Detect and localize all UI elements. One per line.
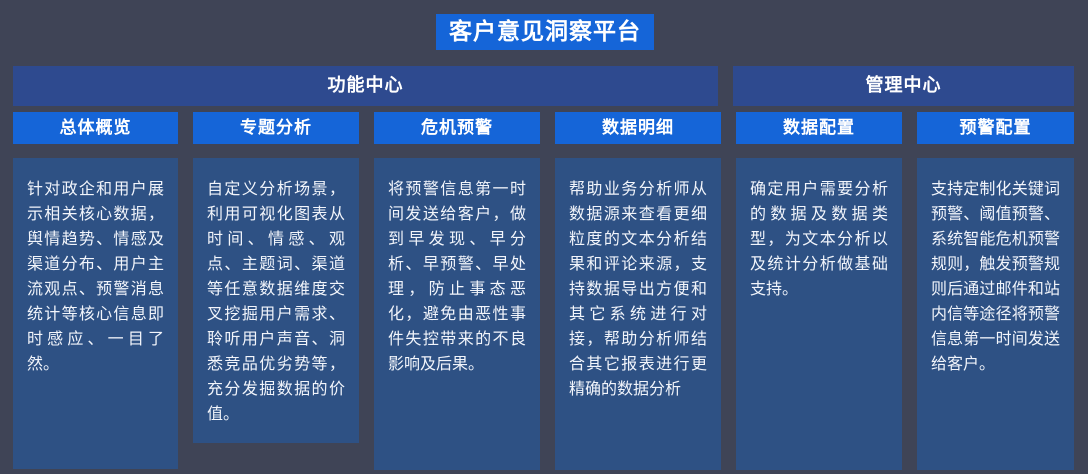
tab-topic-analysis[interactable]: 专题分析 xyxy=(193,112,359,144)
panel-overview: 针对政企和用户展示相关核心数据，舆情趋势、情感及渠道分布、用户主流观点、预警消息… xyxy=(13,158,178,469)
tab-data-config-label: 数据配置 xyxy=(783,120,855,137)
feature-column-alert-config: 预警配置 支持定制化关键词预警、阈值预警、系统智能危机预警规则，触发预警规则后通… xyxy=(917,112,1074,470)
tab-data-detail-label: 数据明细 xyxy=(602,120,674,137)
panel-data-config-text: 确定用户需要分析的数据及数据类型，为文本分析以及统计分析做基础支持。 xyxy=(750,176,888,301)
tab-topic-analysis-label: 专题分析 xyxy=(240,120,312,137)
panel-overview-text: 针对政企和用户展示相关核心数据，舆情趋势、情感及渠道分布、用户主流观点、预警消息… xyxy=(27,176,164,376)
panel-crisis-alert: 将预警信息第一时间发送给客户，做到早发现、早分析、早预警、早处理，防止事态恶化，… xyxy=(374,158,540,470)
panel-data-config: 确定用户需要分析的数据及数据类型，为文本分析以及统计分析做基础支持。 xyxy=(736,158,902,470)
section-header-management-center-label: 管理中心 xyxy=(866,77,942,95)
feature-column-data-detail: 数据明细 帮助业务分析师从数据源来查看更细粒度的文本分析结果和评论来源，支持数据… xyxy=(555,112,721,470)
feature-column-grid: 总体概览 针对政企和用户展示相关核心数据，舆情趋势、情感及渠道分布、用户主流观点… xyxy=(13,112,1074,462)
tab-overview[interactable]: 总体概览 xyxy=(13,112,178,144)
tab-crisis-alert-label: 危机预警 xyxy=(421,120,493,137)
tab-data-detail[interactable]: 数据明细 xyxy=(555,112,721,144)
panel-data-detail: 帮助业务分析师从数据源来查看更细粒度的文本分析结果和评论来源，支持数据导出方便和… xyxy=(555,158,721,470)
panel-crisis-alert-text: 将预警信息第一时间发送给客户，做到早发现、早分析、早预警、早处理，防止事态恶化，… xyxy=(388,176,526,376)
tab-crisis-alert[interactable]: 危机预警 xyxy=(374,112,540,144)
feature-column-data-config: 数据配置 确定用户需要分析的数据及数据类型，为文本分析以及统计分析做基础支持。 xyxy=(736,112,902,470)
panel-alert-config: 支持定制化关键词预警、阈值预警、系统智能危机预警规则，触发预警规则后通过邮件和站… xyxy=(917,158,1074,470)
page-title-label: 客户意见洞察平台 xyxy=(449,21,641,44)
tab-alert-config[interactable]: 预警配置 xyxy=(917,112,1074,144)
section-header-management-center: 管理中心 xyxy=(733,66,1074,106)
tab-data-config[interactable]: 数据配置 xyxy=(736,112,902,144)
feature-column-overview: 总体概览 针对政企和用户展示相关核心数据，舆情趋势、情感及渠道分布、用户主流观点… xyxy=(13,112,178,469)
platform-overview-page: 客户意见洞察平台 功能中心 管理中心 总体概览 针对政企和用户展示相关核心数据，… xyxy=(0,0,1088,474)
panel-alert-config-text: 支持定制化关键词预警、阈值预警、系统智能危机预警规则，触发预警规则后通过邮件和站… xyxy=(931,176,1060,376)
panel-topic-analysis: 自定义分析场景，利用可视化图表从时间、情感、观点、主题词、渠道等任意数据维度交叉… xyxy=(193,158,359,443)
section-header-row: 功能中心 管理中心 xyxy=(13,66,1074,106)
feature-column-topic-analysis: 专题分析 自定义分析场景，利用可视化图表从时间、情感、观点、主题词、渠道等任意数… xyxy=(193,112,359,443)
section-header-function-center: 功能中心 xyxy=(13,66,718,106)
panel-data-detail-text: 帮助业务分析师从数据源来查看更细粒度的文本分析结果和评论来源，支持数据导出方便和… xyxy=(569,176,707,401)
section-header-function-center-label: 功能中心 xyxy=(328,77,404,95)
feature-column-crisis-alert: 危机预警 将预警信息第一时间发送给客户，做到早发现、早分析、早预警、早处理，防止… xyxy=(374,112,540,470)
tab-overview-label: 总体概览 xyxy=(60,120,132,137)
page-title: 客户意见洞察平台 xyxy=(436,14,654,50)
tab-alert-config-label: 预警配置 xyxy=(960,120,1032,137)
panel-topic-analysis-text: 自定义分析场景，利用可视化图表从时间、情感、观点、主题词、渠道等任意数据维度交叉… xyxy=(207,176,345,426)
